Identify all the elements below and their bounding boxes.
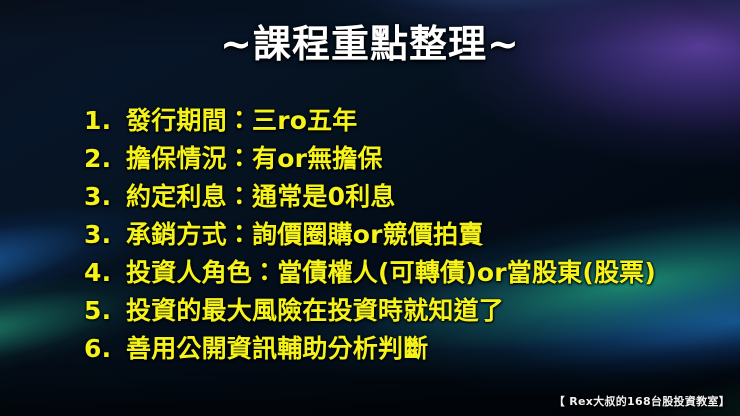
list-item: 3. 約定利息：通常是0利息	[84, 177, 722, 215]
list-item-number: 2.	[84, 144, 126, 173]
list-item-number: 6.	[84, 334, 126, 363]
list-item-number: 4.	[84, 258, 126, 287]
presentation-slide: ~課程重點整理~ 1. 發行期間：三ro五年 2. 擔保情況：有or無擔保 3.…	[0, 0, 740, 416]
list-item-text: 投資的最大風險在投資時就知道了	[126, 291, 722, 327]
list-item-number: 1.	[84, 106, 126, 135]
list-item: 6. 善用公開資訊輔助分析判斷	[84, 329, 722, 367]
list-item-text: 承銷方式：詢價圈購or競價拍賣	[126, 215, 722, 251]
list-item: 4. 投資人角色：當債權人(可轉債)or當股東(股票)	[84, 253, 722, 291]
list-item-number: 3.	[84, 182, 126, 211]
channel-watermark: 【 Rex大叔的168台股投資教室】	[554, 393, 730, 409]
list-item-number: 5.	[84, 296, 126, 325]
list-item: 3. 承銷方式：詢價圈購or競價拍賣	[84, 215, 722, 253]
list-item: 1. 發行期間：三ro五年	[84, 101, 722, 139]
slide-title: ~課程重點整理~	[0, 24, 740, 66]
key-points-list: 1. 發行期間：三ro五年 2. 擔保情況：有or無擔保 3. 約定利息：通常是…	[84, 101, 722, 367]
list-item: 2. 擔保情況：有or無擔保	[84, 139, 722, 177]
list-item-text: 約定利息：通常是0利息	[126, 177, 722, 213]
list-item-text: 擔保情況：有or無擔保	[126, 139, 722, 175]
list-item-text: 發行期間：三ro五年	[126, 101, 722, 137]
list-item-text: 善用公開資訊輔助分析判斷	[126, 329, 722, 365]
list-item-number: 3.	[84, 220, 126, 249]
list-item-text: 投資人角色：當債權人(可轉債)or當股東(股票)	[126, 253, 722, 289]
list-item: 5. 投資的最大風險在投資時就知道了	[84, 291, 722, 329]
slide-content: ~課程重點整理~ 1. 發行期間：三ro五年 2. 擔保情況：有or無擔保 3.…	[0, 0, 740, 416]
